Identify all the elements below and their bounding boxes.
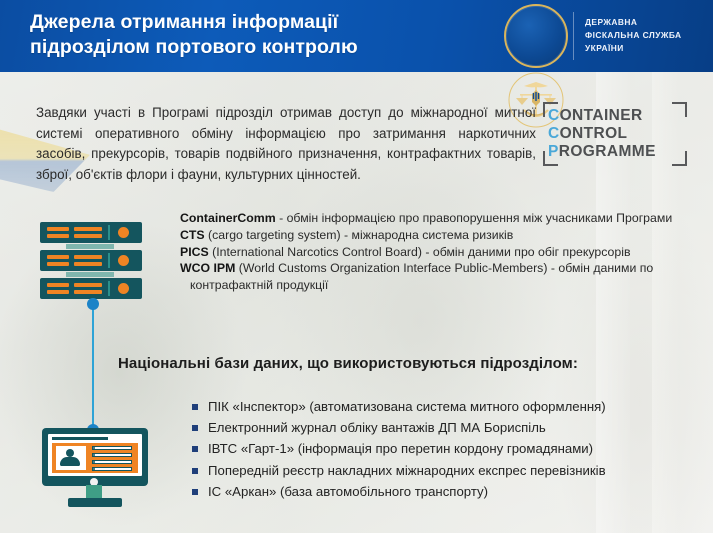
server-link-1 — [66, 244, 114, 249]
logo-lead-c2: C — [548, 125, 560, 142]
list-item-label: ІС «Аркан» (база автомобільного транспор… — [208, 484, 488, 499]
bullet-square-icon — [192, 404, 198, 410]
system-term: ContainerComm — [180, 211, 276, 225]
list-item-label: Електронний журнал обліку вантажів ДП МА… — [208, 420, 546, 435]
intro-paragraph: Завдяки участі в Програмі підрозділ отри… — [36, 103, 536, 185]
monitor-field-dot — [93, 454, 95, 456]
system-description: (International Narcotics Control Board) … — [209, 245, 631, 259]
monitor-screen — [48, 434, 142, 476]
system-item: PICS (International Narcotics Control Bo… — [180, 244, 695, 261]
monitor-form-panel — [52, 443, 138, 473]
system-term: CTS — [180, 228, 205, 242]
organization-line-3: УКРАЇНИ — [585, 42, 682, 55]
bullet-square-icon — [192, 425, 198, 431]
organization-line-1: ДЕРЖАВНА — [585, 16, 682, 29]
server-bar — [74, 227, 102, 231]
logo-lead-p: P — [548, 143, 559, 160]
person-head-icon — [66, 449, 74, 457]
server-unit-2 — [40, 250, 142, 271]
server-separator — [108, 225, 110, 240]
list-item-label: Попередній реєстр накладних міжнародних … — [208, 463, 606, 478]
page-title-line-2: підрозділом портового контролю — [30, 35, 500, 60]
system-description: - обмін інформацією про правопорушення м… — [276, 211, 673, 225]
monitor-stand-base — [68, 498, 122, 507]
logo-bracket-bottom-right — [672, 151, 687, 166]
server-bar — [47, 234, 69, 238]
person-body-icon — [60, 457, 80, 466]
server-bar — [47, 255, 69, 259]
server-bar — [74, 283, 102, 287]
page-title-line-1: Джерела отримання інформації — [30, 10, 500, 35]
monitor-field — [92, 453, 132, 457]
databases-heading: Національні бази даних, що використовуют… — [118, 355, 678, 372]
logo-rest-3: ROGRAMME — [559, 143, 656, 160]
connector-stem — [92, 304, 94, 432]
system-item: ContainerComm - обмін інформацією про пр… — [180, 210, 695, 227]
slide-header: Джерела отримання інформації підрозділом… — [0, 0, 713, 72]
server-led-icon — [118, 255, 129, 266]
list-item: ПІК «Інспектор» (автоматизована система … — [192, 398, 702, 415]
server-led-icon — [118, 283, 129, 294]
connector-line — [86, 300, 100, 436]
desktop-monitor-icon — [42, 428, 158, 512]
page-title: Джерела отримання інформації підрозділом… — [30, 10, 500, 60]
server-bar — [47, 262, 69, 266]
server-unit-3 — [40, 278, 142, 299]
logo-line-programme: PROGRAMME — [548, 142, 656, 161]
connector-dot-top — [87, 298, 99, 310]
monitor-frame — [42, 428, 148, 486]
logo-bracket-top-right — [672, 102, 687, 117]
organization-name: ДЕРЖАВНА ФІСКАЛЬНА СЛУЖБА УКРАЇНИ — [585, 16, 682, 55]
national-databases-list: ПІК «Інспектор» (автоматизована система … — [192, 398, 702, 504]
system-item: WCO IPM (World Customs Organization Inte… — [180, 260, 695, 294]
bullet-square-icon — [192, 489, 198, 495]
system-description: (World Customs Organization Interface Pu… — [235, 261, 653, 275]
list-item: ІС «Аркан» (база автомобільного транспор… — [192, 483, 702, 500]
server-bar — [74, 234, 102, 238]
header-divider — [573, 12, 574, 60]
server-led-icon — [118, 227, 129, 238]
server-unit-1 — [40, 222, 142, 243]
organization-line-2: ФІСКАЛЬНА СЛУЖБА — [585, 29, 682, 42]
server-separator — [108, 281, 110, 296]
monitor-titlebar — [52, 437, 108, 440]
monitor-field-dot — [93, 447, 95, 449]
monitor-field — [92, 467, 132, 471]
server-bar — [74, 290, 102, 294]
server-bar — [47, 227, 69, 231]
list-item-label: ПІК «Інспектор» (автоматизована система … — [208, 399, 606, 414]
monitor-field-dot — [93, 461, 95, 463]
list-item: Електронний журнал обліку вантажів ДП МА… — [192, 419, 702, 436]
logo-rest-1: ONTAINER — [560, 107, 643, 124]
international-systems-list: ContainerComm - обмін інформацією про пр… — [180, 210, 695, 294]
list-item: ІВТС «Гарт-1» (інформація про перетин ко… — [192, 440, 702, 457]
emblem-disc — [504, 4, 568, 68]
server-bar — [74, 255, 102, 259]
server-stack-icon — [40, 222, 150, 302]
bullet-square-icon — [192, 446, 198, 452]
slide-canvas: Джерела отримання інформації підрозділом… — [0, 0, 713, 533]
list-item-label: ІВТС «Гарт-1» (інформація про перетин ко… — [208, 441, 593, 456]
logo-line-container: CONTAINER — [548, 106, 643, 125]
server-bar — [74, 262, 102, 266]
bullet-square-icon — [192, 468, 198, 474]
server-separator — [108, 253, 110, 268]
server-link-2 — [66, 272, 114, 277]
monitor-field — [92, 446, 132, 450]
list-item: Попередній реєстр накладних міжнародних … — [192, 462, 702, 479]
logo-rest-2: ONTROL — [560, 125, 628, 142]
state-fiscal-service-emblem — [504, 4, 568, 68]
system-item: CTS (cargo targeting system) - міжнародн… — [180, 227, 695, 244]
logo-line-control: CONTROL — [548, 124, 627, 143]
system-description-continuation: контрафактній продукції — [180, 277, 695, 294]
monitor-field — [92, 460, 132, 464]
container-control-programme-logo: CONTAINER CONTROL PROGRAMME — [543, 102, 687, 166]
system-description: (cargo targeting system) - міжнародна си… — [205, 228, 514, 242]
server-bar — [47, 283, 69, 287]
logo-lead-c1: C — [548, 107, 560, 124]
server-bar — [47, 290, 69, 294]
monitor-field-dot — [93, 468, 95, 470]
system-term: PICS — [180, 245, 209, 259]
system-term: WCO IPM — [180, 261, 235, 275]
